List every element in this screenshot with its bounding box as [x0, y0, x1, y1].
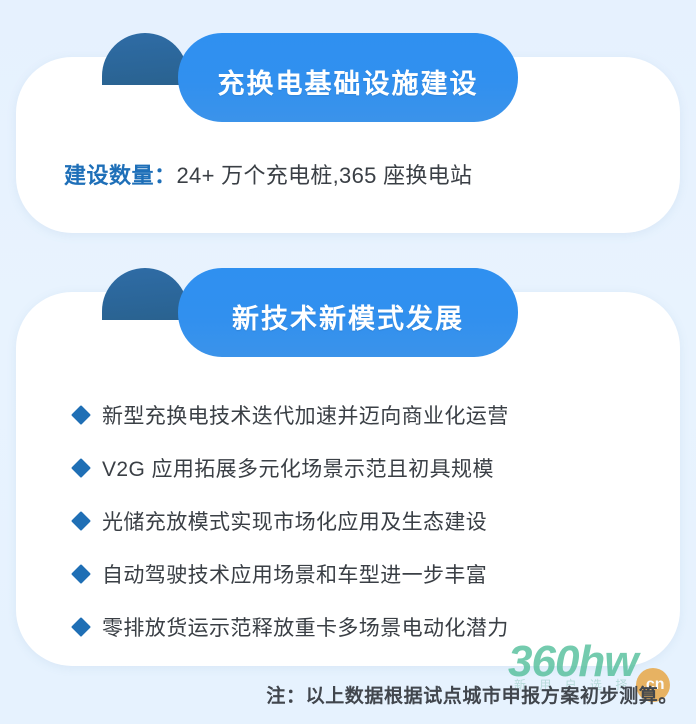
- list-item: 光储充放模式实现市场化应用及生态建设: [74, 494, 654, 547]
- diamond-bullet-icon: [71, 511, 91, 531]
- infrastructure-stat-value: 24+ 万个充电桩,365 座换电站: [177, 163, 473, 188]
- diamond-bullet-icon: [71, 405, 91, 425]
- card-infrastructure: 充换电基础设施建设 建设数量：24+ 万个充电桩,365 座换电站: [16, 57, 680, 233]
- tab-infrastructure[interactable]: 充换电基础设施建设: [178, 33, 518, 122]
- poster-canvas: 充换电基础设施建设 建设数量：24+ 万个充电桩,365 座换电站 新技术新模式…: [0, 0, 696, 724]
- tab-shoulder-left-icon: [102, 33, 188, 85]
- list-item: V2G 应用拓展多元化场景示范且初具规模: [74, 441, 654, 494]
- list-item: 新型充换电技术迭代加速并迈向商业化运营: [74, 388, 654, 441]
- list-item-label: 新型充换电技术迭代加速并迈向商业化运营: [102, 400, 509, 430]
- list-item: 自动驾驶技术应用场景和车型进一步丰富: [74, 547, 654, 600]
- tab-new-technology-title: 新技术新模式发展: [232, 292, 464, 333]
- list-item-label: V2G 应用拓展多元化场景示范且初具规模: [102, 453, 494, 483]
- tab-infrastructure-title: 充换电基础设施建设: [218, 57, 479, 98]
- list-item: 零排放货运示范释放重卡多场景电动化潜力: [74, 600, 654, 653]
- diamond-bullet-icon: [71, 458, 91, 478]
- diamond-bullet-icon: [71, 564, 91, 584]
- new-technology-bullet-list: 新型充换电技术迭代加速并迈向商业化运营 V2G 应用拓展多元化场景示范且初具规模…: [74, 388, 654, 653]
- diamond-bullet-icon: [71, 617, 91, 637]
- card-new-technology-tab-group: 新技术新模式发展: [16, 292, 680, 384]
- list-item-label: 自动驾驶技术应用场景和车型进一步丰富: [102, 559, 487, 589]
- card-infrastructure-tab-group: 充换电基础设施建设: [16, 57, 680, 149]
- list-item-label: 光储充放模式实现市场化应用及生态建设: [102, 506, 487, 536]
- card-new-technology: 新技术新模式发展 新型充换电技术迭代加速并迈向商业化运营 V2G 应用拓展多元化…: [16, 292, 680, 666]
- footer-note: 注：以上数据根据试点城市申报方案初步测算。: [266, 681, 678, 708]
- infrastructure-stat-label: 建设数量：: [64, 163, 177, 188]
- list-item-label: 零排放货运示范释放重卡多场景电动化潜力: [102, 612, 509, 642]
- infrastructure-stat-line: 建设数量：24+ 万个充电桩,365 座换电站: [64, 162, 472, 191]
- tab-shoulder-left-icon: [102, 268, 188, 320]
- tab-new-technology[interactable]: 新技术新模式发展: [178, 268, 518, 357]
